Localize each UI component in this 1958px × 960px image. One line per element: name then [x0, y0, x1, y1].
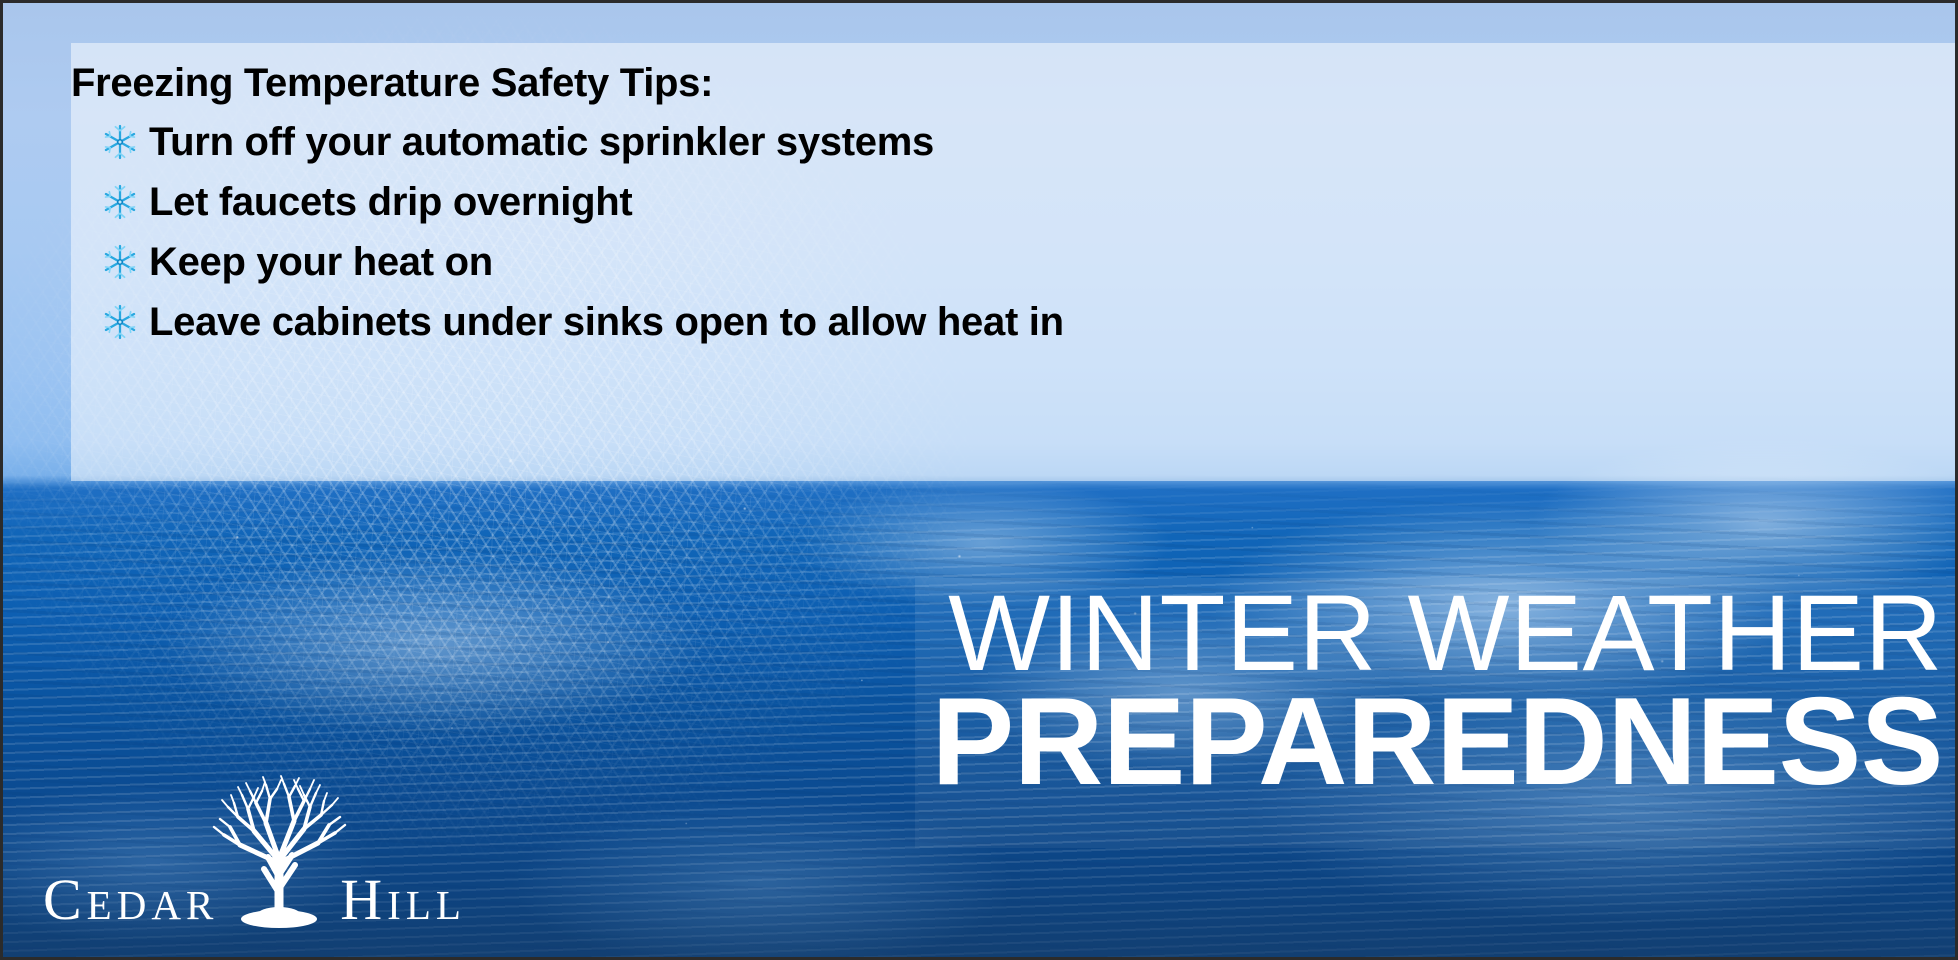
cedar-hill-logo: Cedar Hill [43, 765, 466, 935]
logo-word-hill: Hill [340, 871, 466, 935]
title-block: WINTER WEATHER PREPAREDNESS [932, 581, 1944, 802]
winter-weather-preparedness-graphic: Freezing Temperature Safety Tips: [0, 0, 1958, 960]
snowflake-icon [101, 183, 139, 221]
safety-tips-list: Turn off your automatic sprinkler system… [71, 112, 1955, 352]
safety-tip-text: Turn off your automatic sprinkler system… [149, 120, 934, 165]
safety-tip-item: Leave cabinets under sinks open to allow… [71, 292, 1955, 352]
logo-word-cedar: Cedar [43, 871, 218, 935]
safety-tips-heading: Freezing Temperature Safety Tips: [71, 61, 713, 106]
snowflake-icon [101, 123, 139, 161]
safety-tips-panel: Freezing Temperature Safety Tips: [71, 43, 1955, 481]
snowflake-icon [101, 243, 139, 281]
safety-tip-text: Let faucets drip overnight [149, 180, 632, 225]
snowflake-icon [101, 303, 139, 341]
title-line-winter-weather: WINTER WEATHER [932, 581, 1944, 686]
tree-icon [204, 765, 354, 935]
safety-tip-item: Let faucets drip overnight [71, 172, 1955, 232]
safety-tip-item: Turn off your automatic sprinkler system… [71, 112, 1955, 172]
safety-tip-text: Leave cabinets under sinks open to allow… [149, 300, 1064, 345]
safety-tip-item: Keep your heat on [71, 232, 1955, 292]
title-line-preparedness: PREPAREDNESS [932, 682, 1944, 802]
safety-tip-text: Keep your heat on [149, 240, 493, 285]
